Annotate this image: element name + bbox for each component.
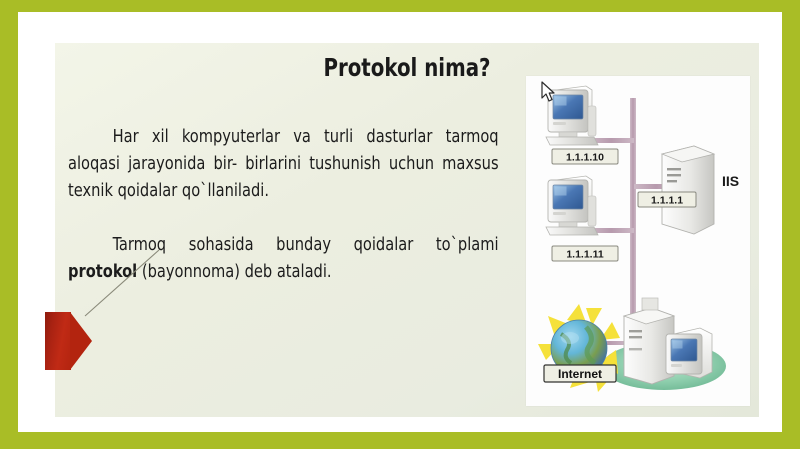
red-arrow-marker	[45, 312, 92, 370]
paragraph-2: Tarmoq sohasida bunday qoidalar to`plami…	[68, 232, 499, 286]
internet-label-text: Internet	[558, 367, 602, 381]
label-ip-top: 1.1.1.10	[552, 149, 618, 164]
ip-label-bottom-text: 1.1.1.11	[566, 249, 604, 261]
iis-server-icon: IIS	[662, 146, 739, 234]
network-diagram-image: 1.1.1.10 1.1.1.	[526, 76, 750, 406]
label-internet: Internet	[544, 365, 616, 382]
label-ip-server: 1.1.1.1	[638, 192, 696, 207]
ip-label-top-text: 1.1.1.10	[566, 152, 604, 164]
slide-content-panel: Protokol nima? Har xil kompyuterlar va t…	[55, 43, 759, 417]
paragraph-2-tail: (bayonnoma) deb ataladi.	[137, 262, 331, 282]
paragraph-2-keyword: protokol	[68, 262, 137, 282]
network-diagram-svg: 1.1.1.10 1.1.1.	[526, 76, 750, 406]
server-title-text: IIS	[722, 173, 739, 189]
red-arrow-tip	[70, 312, 92, 370]
red-arrow-body	[45, 312, 71, 370]
slide-white-mat: Protokol nima? Har xil kompyuterlar va t…	[18, 12, 782, 432]
ip-label-server-text: 1.1.1.1	[651, 195, 683, 207]
gateway-monitor-icon	[666, 328, 712, 378]
paragraph-1: Har xil kompyuterlar va turli dasturlar …	[68, 124, 499, 205]
body-text-column: Har xil kompyuterlar va turli dasturlar …	[68, 124, 531, 286]
workstation-bottom-icon	[546, 176, 598, 235]
slide-root: Protokol nima? Har xil kompyuterlar va t…	[0, 0, 800, 449]
paragraph-2-lead: Tarmoq sohasida bunday qoidalar to`plami	[113, 235, 499, 255]
label-ip-bottom: 1.1.1.11	[552, 246, 618, 261]
mouse-cursor	[540, 81, 556, 103]
